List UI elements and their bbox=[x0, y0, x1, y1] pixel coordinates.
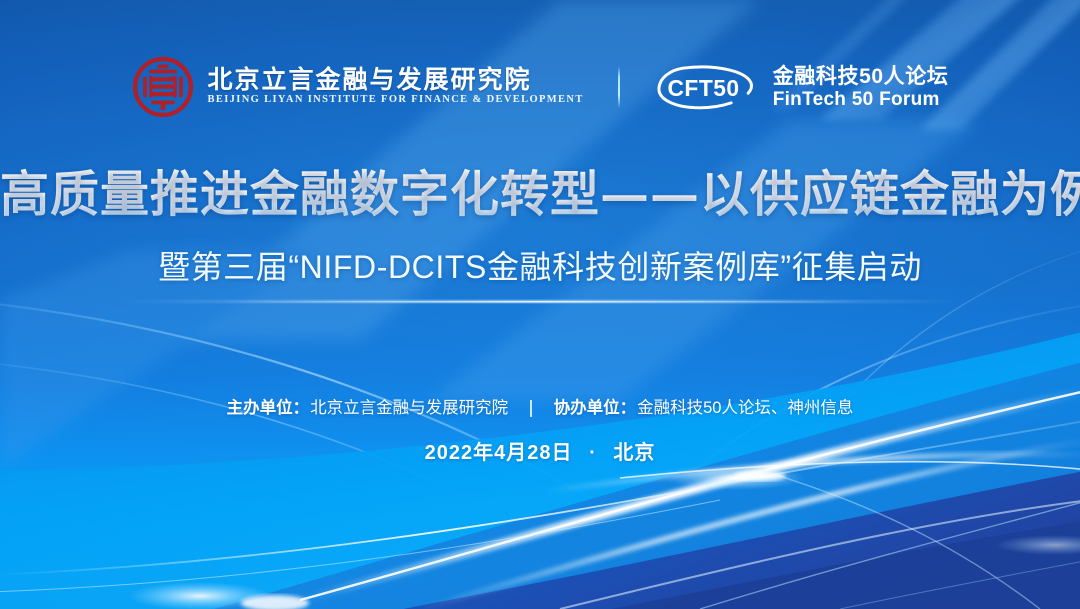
page-subtitle: 暨第三届“NIFD-DCITS金融科技创新案例库”征集启动 bbox=[0, 248, 1080, 286]
institute-name-block: 北京立言金融与发展研究院 BEIJING LIYAN INSTITUTE FOR… bbox=[208, 68, 584, 106]
host-organizer-value: 北京立言金融与发展研究院 bbox=[310, 400, 508, 417]
credits-divider bbox=[530, 400, 532, 417]
host-organizer-label: 主办单位： bbox=[227, 400, 310, 417]
co-organizer-value: 金融科技50人论坛、神州信息 bbox=[637, 400, 853, 417]
event-city: 北京 bbox=[613, 442, 655, 464]
institute-logo: 北京立言金融与发展研究院 BEIJING LIYAN INSTITUTE FOR… bbox=[132, 56, 584, 118]
institute-name-cn: 北京立言金融与发展研究院 bbox=[208, 68, 584, 93]
page-title: 高质量推进金融数字化转型——以供应链金融为例 bbox=[0, 166, 1080, 223]
conference-banner: 北京立言金融与发展研究院 BEIJING LIYAN INSTITUTE FOR… bbox=[0, 0, 1080, 609]
organizer-credits: 主办单位： 北京立言金融与发展研究院 协办单位： 金融科技50人论坛、神州信息 bbox=[0, 400, 1080, 417]
logo-header: 北京立言金融与发展研究院 BEIJING LIYAN INSTITUTE FOR… bbox=[0, 48, 1080, 126]
institute-name-en: BEIJING LIYAN INSTITUTE FOR FINANCE & DE… bbox=[208, 95, 584, 106]
co-organizer: 协办单位： 金融科技50人论坛、神州信息 bbox=[554, 400, 854, 417]
event-datetime: 2022年4月28日 · 北京 bbox=[0, 443, 1080, 463]
cft50-logo: CFT50 金融科技50人论坛 FinTech 50 Forum bbox=[654, 61, 949, 113]
co-organizer-label: 协办单位： bbox=[554, 400, 637, 417]
cft50-mark-icon: CFT50 bbox=[654, 61, 758, 113]
datetime-dot: · bbox=[589, 442, 597, 464]
host-organizer: 主办单位： 北京立言金融与发展研究院 bbox=[227, 400, 509, 417]
cft50-name-cn: 金融科技50人论坛 bbox=[773, 66, 949, 87]
seal-stamp-icon bbox=[132, 56, 194, 118]
event-date: 2022年4月28日 bbox=[425, 442, 573, 464]
cft50-name-block: 金融科技50人论坛 FinTech 50 Forum bbox=[773, 66, 949, 109]
cft50-name-en: FinTech 50 Forum bbox=[773, 90, 949, 109]
svg-text:CFT50: CFT50 bbox=[667, 75, 739, 101]
logo-divider bbox=[618, 66, 620, 108]
